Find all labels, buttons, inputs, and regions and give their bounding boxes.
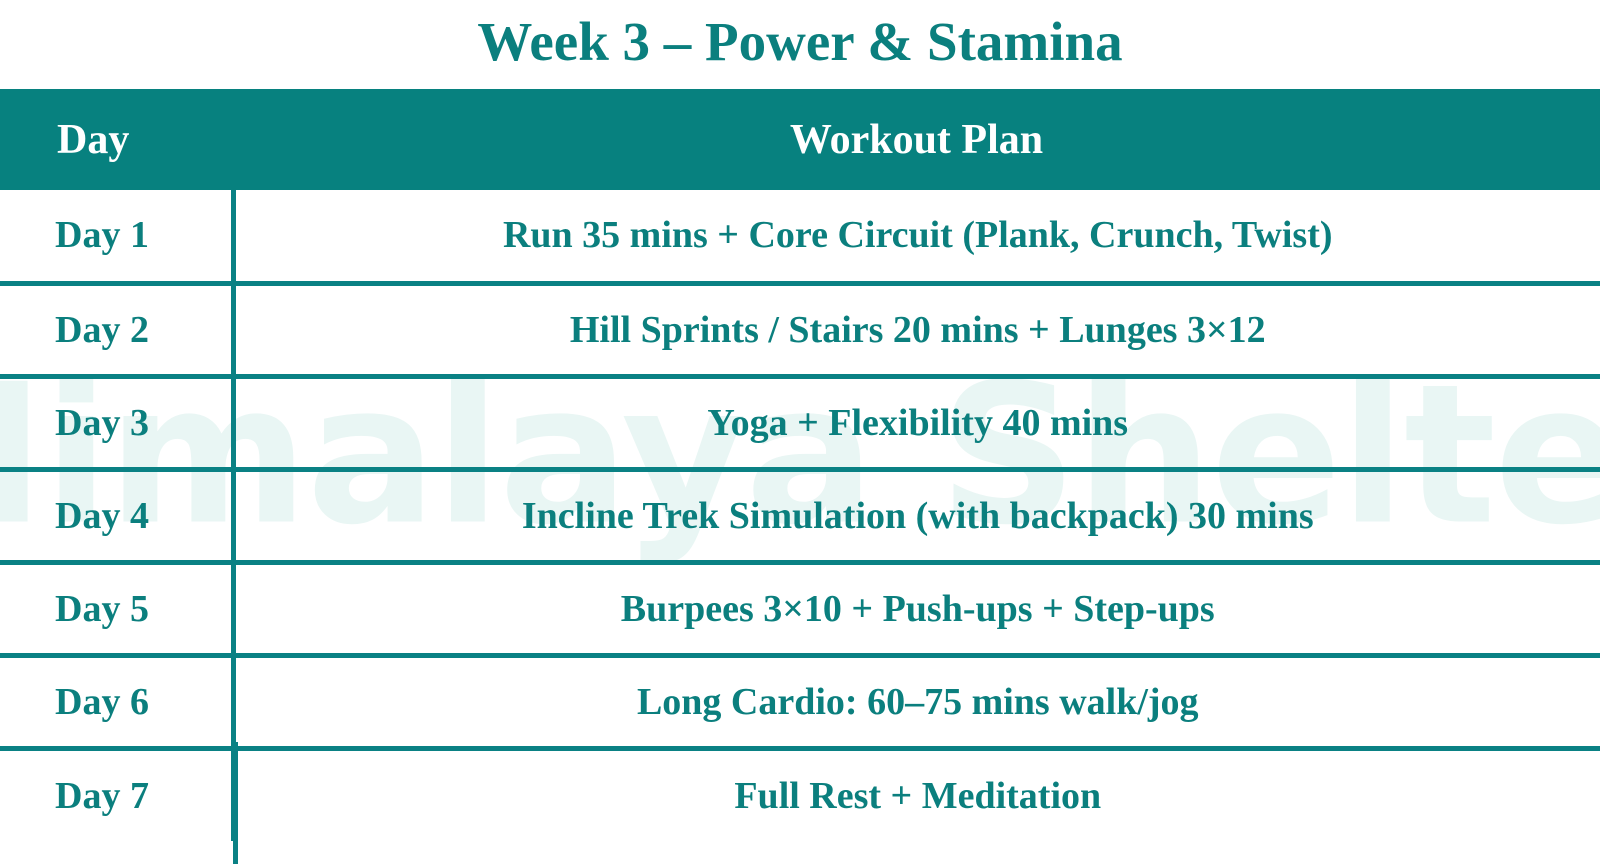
cell-day: Day 5 bbox=[0, 562, 233, 655]
column-divider-extension bbox=[233, 742, 238, 864]
cell-day: Day 1 bbox=[0, 190, 233, 283]
cell-plan: Incline Trek Simulation (with backpack) … bbox=[233, 469, 1600, 562]
cell-day: Day 4 bbox=[0, 469, 233, 562]
cell-plan: Run 35 mins + Core Circuit (Plank, Crunc… bbox=[233, 190, 1600, 283]
cell-day: Day 3 bbox=[0, 376, 233, 469]
table-row: Day 4 Incline Trek Simulation (with back… bbox=[0, 469, 1600, 562]
cell-plan: Full Rest + Meditation bbox=[233, 748, 1600, 841]
table-row: Day 2 Hill Sprints / Stairs 20 mins + Lu… bbox=[0, 283, 1600, 376]
cell-day: Day 7 bbox=[0, 748, 233, 841]
cell-plan: Yoga + Flexibility 40 mins bbox=[233, 376, 1600, 469]
table-row: Day 1 Run 35 mins + Core Circuit (Plank,… bbox=[0, 190, 1600, 283]
page-title: Week 3 – Power & Stamina bbox=[0, 0, 1600, 89]
cell-day: Day 2 bbox=[0, 283, 233, 376]
workout-plan-page: Himalaya Shelter Week 3 – Power & Stamin… bbox=[0, 0, 1600, 864]
cell-plan: Long Cardio: 60–75 mins walk/jog bbox=[233, 655, 1600, 748]
cell-day: Day 6 bbox=[0, 655, 233, 748]
table-row: Day 7 Full Rest + Meditation bbox=[0, 748, 1600, 841]
table-header-row: Day Workout Plan bbox=[0, 89, 1600, 190]
table-header: Day Workout Plan bbox=[0, 89, 1600, 190]
workout-plan-table: Day Workout Plan Day 1 Run 35 mins + Cor… bbox=[0, 89, 1600, 841]
table-body: Day 1 Run 35 mins + Core Circuit (Plank,… bbox=[0, 190, 1600, 841]
table-row: Day 6 Long Cardio: 60–75 mins walk/jog bbox=[0, 655, 1600, 748]
column-header-day: Day bbox=[0, 89, 233, 190]
cell-plan: Hill Sprints / Stairs 20 mins + Lunges 3… bbox=[233, 283, 1600, 376]
table-row: Day 3 Yoga + Flexibility 40 mins bbox=[0, 376, 1600, 469]
table-row: Day 5 Burpees 3×10 + Push-ups + Step-ups bbox=[0, 562, 1600, 655]
column-header-workout-plan: Workout Plan bbox=[233, 89, 1600, 190]
cell-plan: Burpees 3×10 + Push-ups + Step-ups bbox=[233, 562, 1600, 655]
